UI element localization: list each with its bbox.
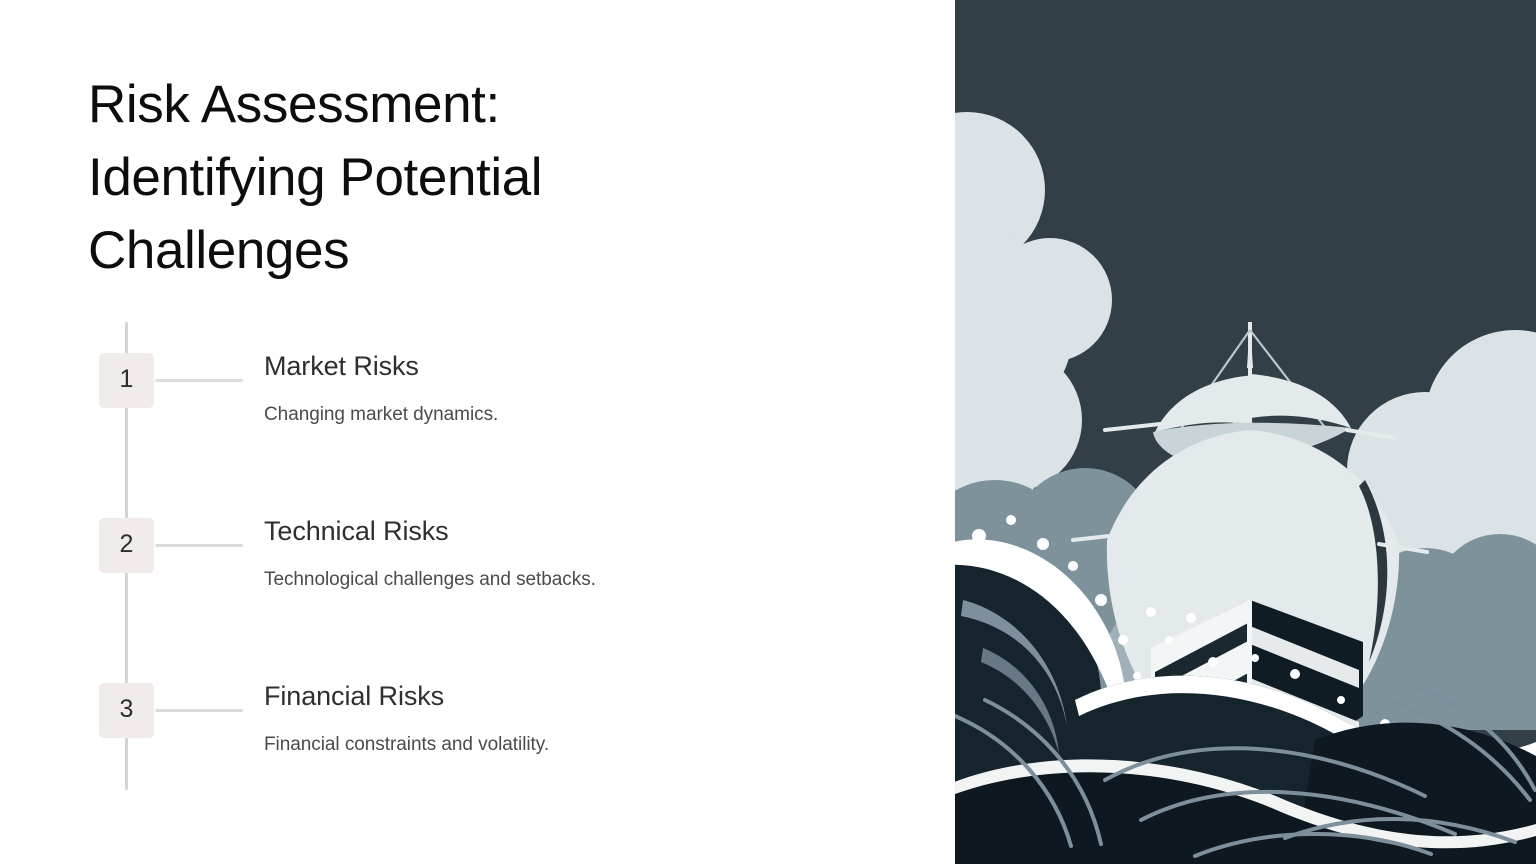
list-item[interactable]: 1 Market Risks Changing market dynamics. bbox=[88, 348, 908, 468]
step-connector-line bbox=[155, 379, 243, 382]
step-text-block: Technical Risks Technological challenges… bbox=[264, 513, 904, 593]
slide-root: Risk Assessment: Identifying Potential C… bbox=[0, 0, 1536, 864]
step-connector-line bbox=[155, 544, 243, 547]
list-item[interactable]: 3 Financial Risks Financial constraints … bbox=[88, 678, 908, 798]
page-title: Risk Assessment: Identifying Potential C… bbox=[88, 68, 708, 287]
step-number-badge: 3 bbox=[99, 683, 154, 738]
step-description: Technological challenges and setbacks. bbox=[264, 567, 904, 593]
step-text-block: Financial Risks Financial constraints an… bbox=[264, 678, 904, 758]
step-heading: Technical Risks bbox=[264, 513, 904, 549]
stormy-sea-ship-illustration bbox=[955, 0, 1536, 864]
step-number-badge: 2 bbox=[99, 518, 154, 573]
step-description: Financial constraints and volatility. bbox=[264, 732, 904, 758]
step-connector-line bbox=[155, 709, 243, 712]
step-text-block: Market Risks Changing market dynamics. bbox=[264, 348, 904, 428]
illustration-svg bbox=[955, 0, 1536, 864]
timeline-list: 1 Market Risks Changing market dynamics.… bbox=[88, 322, 908, 792]
step-description: Changing market dynamics. bbox=[264, 402, 904, 428]
list-item[interactable]: 2 Technical Risks Technological challeng… bbox=[88, 513, 908, 633]
step-heading: Market Risks bbox=[264, 348, 904, 384]
content-panel: Risk Assessment: Identifying Potential C… bbox=[0, 0, 955, 864]
step-heading: Financial Risks bbox=[264, 678, 904, 714]
step-number-badge: 1 bbox=[99, 353, 154, 408]
